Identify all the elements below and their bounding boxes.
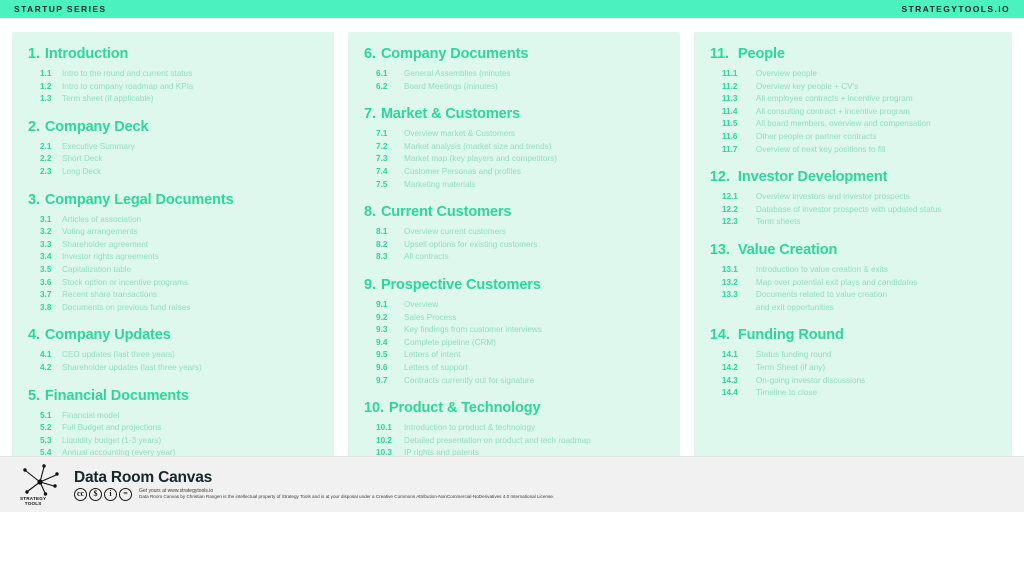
outline-item[interactable]: 5.2Full Budget and projections — [28, 422, 318, 435]
item-label: Other people or partner contracts — [756, 131, 877, 144]
outline-item[interactable]: 1.2Intro to company roadmap and KPIs — [28, 81, 318, 94]
item-label: Articles of association — [62, 214, 141, 227]
item-number: 11.4 — [722, 106, 756, 119]
item-label: All board members, overview and compensa… — [756, 118, 931, 131]
outline-section: 7.Market & Customers7.1Overview market &… — [364, 106, 664, 191]
section-heading: 12.Investor Development — [710, 169, 996, 185]
outline-item[interactable]: 10.1Introduction to product & technology — [364, 422, 664, 435]
item-number: 11.1 — [722, 68, 756, 81]
item-label: Recent share transactions — [62, 289, 157, 302]
outline-item[interactable]: 9.4Complete pipeline (CRM) — [364, 337, 664, 350]
item-label: Database of investor prospects with upda… — [756, 204, 942, 217]
outline-section: 3.Company Legal Documents3.1Articles of … — [28, 192, 318, 315]
item-number: 9.1 — [376, 299, 404, 312]
item-label: Short Deck — [62, 153, 103, 166]
outline-item[interactable]: 9.1Overview — [364, 299, 664, 312]
outline-item[interactable]: 12.3Term sheets — [710, 216, 996, 229]
no-derivatives-icon: = — [119, 488, 132, 501]
item-label: Intro to the round and current status — [62, 68, 192, 81]
item-label: Sales Process — [404, 312, 456, 325]
outline-item[interactable]: 8.2Upsell options for existing customers — [364, 239, 664, 252]
item-number: 9.6 — [376, 362, 404, 375]
item-number: 5.1 — [40, 410, 62, 423]
item-label-continued: and exit opportunities — [756, 302, 887, 315]
item-number: 12.3 — [722, 216, 756, 229]
outline-item[interactable]: 7.3Market map (key players and competito… — [364, 153, 664, 166]
item-number: 7.3 — [376, 153, 404, 166]
item-label: Documents on previous fund raises — [62, 302, 190, 315]
item-label: Term sheet (if applicable) — [62, 93, 153, 106]
outline-item[interactable]: 7.5Marketing materials — [364, 179, 664, 192]
series-label: STARTUP SERIES — [14, 4, 107, 14]
item-label: Overview market & Customers — [404, 128, 515, 141]
outline-item[interactable]: 11.3All employee contracts + incentive p… — [710, 93, 996, 106]
section-number: 4. — [28, 327, 40, 343]
section-title: People — [738, 46, 785, 62]
item-label: Overview people — [756, 68, 817, 81]
item-number: 9.7 — [376, 375, 404, 388]
section-number: 9. — [364, 277, 376, 293]
item-label: Full Budget and projections — [62, 422, 161, 435]
outline-item[interactable]: 2.3Long Deck — [28, 166, 318, 179]
footer-text: Get yours at www.strategytools.io Data R… — [139, 488, 554, 500]
item-label: CEO updates (last three years) — [62, 349, 175, 362]
section-title: Market & Customers — [381, 106, 520, 122]
item-number: 4.2 — [40, 362, 62, 375]
item-number: 10.1 — [376, 422, 404, 435]
outline-item[interactable]: 3.7Recent share transactions — [28, 289, 318, 302]
item-number: 3.3 — [40, 239, 62, 252]
column-1: 1.Introduction1.1Intro to the round and … — [12, 32, 334, 512]
item-number: 7.2 — [376, 141, 404, 154]
strategy-tools-logo: STRATEGY TOOLS — [14, 462, 66, 508]
column-2: 6.Company Documents6.1General Assemblies… — [348, 32, 680, 512]
section-heading: 1.Introduction — [28, 46, 318, 62]
outline-item[interactable]: 13.2Map over potential exit plays and ca… — [710, 277, 996, 290]
item-label: On-going investor discussions — [756, 375, 865, 388]
outline-item[interactable]: 9.3Key findings from customer interviews — [364, 324, 664, 337]
item-label: Overview investors and investor prospect… — [756, 191, 910, 204]
outline-section: 11.People11.1Overview people11.2Overview… — [710, 46, 996, 156]
item-number: 5.2 — [40, 422, 62, 435]
item-number: 8.3 — [376, 251, 404, 264]
item-number: 5.3 — [40, 435, 62, 448]
outline-item[interactable]: 5.1Financial model — [28, 410, 318, 423]
section-heading: 9.Prospective Customers — [364, 277, 664, 293]
section-number: 1. — [28, 46, 40, 62]
item-number: 3.1 — [40, 214, 62, 227]
footer-main: Data Room Canvas cc $ i = Get yours at w… — [74, 469, 554, 501]
brand-label: STRATEGYTOOLS.IO — [901, 4, 1010, 14]
section-title: Company Deck — [45, 119, 149, 135]
section-number: 8. — [364, 204, 376, 220]
outline-item[interactable]: 3.2Voting arrangements — [28, 226, 318, 239]
item-label: Overview current customers — [404, 226, 506, 239]
item-label: Shareholder agreement — [62, 239, 148, 252]
item-label: Liquidity budget (1-3 years) — [62, 435, 161, 448]
outline-item[interactable]: 13.1Introduction to value creation & exi… — [710, 264, 996, 277]
item-label: Capitalization table — [62, 264, 131, 277]
outline-item[interactable]: 14.4Timeline to close — [710, 387, 996, 400]
item-number: 13.3 — [722, 289, 756, 302]
outline-item[interactable]: 9.6Letters of support — [364, 362, 664, 375]
item-number: 11.7 — [722, 144, 756, 157]
item-label: Introduction to value creation & exits — [756, 264, 888, 277]
section-heading: 5.Financial Documents — [28, 388, 318, 404]
item-label: Intro to company roadmap and KPIs — [62, 81, 193, 94]
item-label: Key findings from customer interviews — [404, 324, 542, 337]
section-title: Funding Round — [738, 327, 844, 343]
section-title: Product & Technology — [389, 400, 541, 416]
creative-commons-icons: cc $ i = — [74, 488, 132, 501]
footer-license-row: cc $ i = Get yours at www.strategytools.… — [74, 488, 554, 501]
section-number: 2. — [28, 119, 40, 135]
item-number: 12.2 — [722, 204, 756, 217]
item-label: Documents related to value creationand e… — [756, 289, 887, 314]
section-number: 11. — [710, 46, 736, 62]
outline-section: 1.Introduction1.1Intro to the round and … — [28, 46, 318, 106]
item-number: 2.3 — [40, 166, 62, 179]
column-3: 11.People11.1Overview people11.2Overview… — [694, 32, 1012, 512]
item-label: Term Sheet (if any) — [756, 362, 825, 375]
section-number: 14. — [710, 327, 736, 343]
item-label: Financial model — [62, 410, 119, 423]
outline-item[interactable]: 4.1CEO updates (last three years) — [28, 349, 318, 362]
outline-item[interactable]: 14.2Term Sheet (if any) — [710, 362, 996, 375]
item-label: Contracts currently out for signature — [404, 375, 534, 388]
outline-item[interactable]: 12.1Overview investors and investor pros… — [710, 191, 996, 204]
item-label: Market analysis (market size and trends) — [404, 141, 551, 154]
outline-item[interactable]: 6.1General Assemblies (minutes — [364, 68, 664, 81]
item-number: 14.4 — [722, 387, 756, 400]
item-number: 12.1 — [722, 191, 756, 204]
outline-item[interactable]: 3.8Documents on previous fund raises — [28, 302, 318, 315]
section-number: 3. — [28, 192, 40, 208]
footer-license-line: Data Room Canvas by Christian Rangen is … — [139, 494, 554, 500]
outline-section: 6.Company Documents6.1General Assemblies… — [364, 46, 664, 93]
outline-item[interactable]: 3.1Articles of association — [28, 214, 318, 227]
item-label: Timeline to close — [756, 387, 817, 400]
section-heading: 14.Funding Round — [710, 327, 996, 343]
item-label: General Assemblies (minutes — [404, 68, 510, 81]
outline-item[interactable]: 1.3 Term sheet (if applicable) — [28, 93, 318, 106]
cc-icon: cc — [74, 488, 87, 501]
item-number: 14.1 — [722, 349, 756, 362]
outline-item[interactable]: 7.1Overview market & Customers — [364, 128, 664, 141]
item-number: 8.1 — [376, 226, 404, 239]
item-number: 11.5 — [722, 118, 756, 131]
outline-section: 4.Company Updates4.1CEO updates (last th… — [28, 327, 318, 374]
outline-section: 2.Company Deck2.1Executive Summary2.2Sho… — [28, 119, 318, 179]
section-heading: 4.Company Updates — [28, 327, 318, 343]
item-number: 1.3 — [40, 93, 62, 106]
item-number: 8.2 — [376, 239, 404, 252]
outline-item[interactable]: 10.2Detailed presentation on product and… — [364, 435, 664, 448]
outline-item[interactable]: 9.2Sales Process — [364, 312, 664, 325]
item-label: Complete pipeline (CRM) — [404, 337, 496, 350]
item-number: 1.2 — [40, 81, 62, 94]
item-label: Introduction to product & technology — [404, 422, 535, 435]
section-number: 5. — [28, 388, 40, 404]
item-label: Shareholder updates (last three years) — [62, 362, 202, 375]
item-label: Detailed presentation on product and tec… — [404, 435, 591, 448]
outline-item[interactable]: 3.3Shareholder agreement — [28, 239, 318, 252]
section-title: Company Updates — [45, 327, 171, 343]
canvas-title: Data Room Canvas — [74, 469, 554, 486]
outline-item[interactable]: 7.4Customer Personas and profiles — [364, 166, 664, 179]
section-number: 7. — [364, 106, 376, 122]
item-label: Letters of support — [404, 362, 468, 375]
section-heading: 3.Company Legal Documents — [28, 192, 318, 208]
item-number: 13.2 — [722, 277, 756, 290]
item-number: 9.2 — [376, 312, 404, 325]
item-label: Letters of intent — [404, 349, 460, 362]
item-number: 3.7 — [40, 289, 62, 302]
section-heading: 2.Company Deck — [28, 119, 318, 135]
outline-item[interactable]: 2.1Executive Summary — [28, 141, 318, 154]
item-label: Long Deck — [62, 166, 101, 179]
item-number: 6.1 — [376, 68, 404, 81]
logo-word-line-2: TOOLS — [25, 501, 42, 506]
outline-section: 8.Current Customers8.1Overview current c… — [364, 204, 664, 264]
item-number: 14.2 — [722, 362, 756, 375]
item-number: 11.3 — [722, 93, 756, 106]
outline-item[interactable]: 5.3Liquidity budget (1-3 years) — [28, 435, 318, 448]
item-number: 3.6 — [40, 277, 62, 290]
section-title: Financial Documents — [45, 388, 189, 404]
item-label: Voting arrangements — [62, 226, 138, 239]
item-label: Overview of next key positions to fill — [756, 144, 886, 157]
section-number: 13. — [710, 242, 736, 258]
item-label: All consulting contract + incentive prog… — [756, 106, 910, 119]
footer: STRATEGY TOOLS Data Room Canvas cc $ i =… — [0, 456, 1024, 512]
outline-item[interactable]: 11.2Overview key people + CV's — [710, 81, 996, 94]
item-number: 2.1 — [40, 141, 62, 154]
item-number: 3.5 — [40, 264, 62, 277]
outline-item[interactable]: 4.2Shareholder updates (last three years… — [28, 362, 318, 375]
outline-item[interactable]: 3.5Capitalization table — [28, 264, 318, 277]
item-label: Customer Personas and profiles — [404, 166, 521, 179]
section-title: Company Documents — [381, 46, 528, 62]
outline-section: 14.Funding Round14.1Status funding round… — [710, 327, 996, 399]
item-number: 1.1 — [40, 68, 62, 81]
item-number: 11.2 — [722, 81, 756, 94]
attribution-icon: i — [104, 488, 117, 501]
item-number: 9.5 — [376, 349, 404, 362]
item-number: 4.1 — [40, 349, 62, 362]
item-label: Stock option or incentive programs — [62, 277, 188, 290]
item-number: 6.2 — [376, 81, 404, 94]
item-number: 9.4 — [376, 337, 404, 350]
outline-item[interactable]: 12.2Database of investor prospects with … — [710, 204, 996, 217]
outline-section: 12.Investor Development12.1Overview inve… — [710, 169, 996, 229]
outline-item[interactable]: 11.5All board members, overview and comp… — [710, 118, 996, 131]
outline-item[interactable]: 9.7Contracts currently out for signature — [364, 375, 664, 388]
section-heading: 7.Market & Customers — [364, 106, 664, 122]
outline-item[interactable]: 8.1Overview current customers — [364, 226, 664, 239]
section-heading: 10.Product & Technology — [364, 400, 664, 416]
item-number: 2.2 — [40, 153, 62, 166]
item-label: Overview key people + CV's — [756, 81, 858, 94]
section-number: 10. — [364, 400, 384, 416]
item-label: Term sheets — [756, 216, 801, 229]
item-label: Upsell options for existing customers — [404, 239, 537, 252]
section-heading: 13.Value Creation — [710, 242, 996, 258]
section-heading: 6.Company Documents — [364, 46, 664, 62]
outline-item[interactable]: 6.2Board Meetings (minutes) — [364, 81, 664, 94]
item-label: Board Meetings (minutes) — [404, 81, 498, 94]
outline-item[interactable]: 14.1Status funding round — [710, 349, 996, 362]
section-number: 6. — [364, 46, 376, 62]
section-title: Prospective Customers — [381, 277, 541, 293]
top-header-bar: STARTUP SERIES STRATEGYTOOLS.IO — [0, 0, 1024, 18]
outline-item[interactable]: 11.6Other people or partner contracts — [710, 131, 996, 144]
logo-wordmark: STRATEGY TOOLS — [20, 496, 46, 506]
item-label: Map over potential exit plays and candid… — [756, 277, 918, 290]
item-label: Status funding round — [756, 349, 832, 362]
non-commercial-icon: $ — [89, 488, 102, 501]
item-label: All contracts — [404, 251, 449, 264]
outline-item[interactable]: 7.2Market analysis (market size and tren… — [364, 141, 664, 154]
outline-item[interactable]: 11.4All consulting contract + incentive … — [710, 106, 996, 119]
item-number: 7.4 — [376, 166, 404, 179]
item-number: 13.1 — [722, 264, 756, 277]
item-number: 3.4 — [40, 251, 62, 264]
section-title: Company Legal Documents — [45, 192, 234, 208]
item-number: 3.8 — [40, 302, 62, 315]
item-number: 3.2 — [40, 226, 62, 239]
section-heading: 11.People — [710, 46, 996, 62]
section-title: Value Creation — [738, 242, 837, 258]
outline-section: 13.Value Creation13.1Introduction to val… — [710, 242, 996, 314]
outline-item[interactable]: 2.2Short Deck — [28, 153, 318, 166]
item-label: Executive Summary — [62, 141, 135, 154]
section-title: Introduction — [45, 46, 128, 62]
item-label: All employee contracts + incentive progr… — [756, 93, 913, 106]
section-heading: 8.Current Customers — [364, 204, 664, 220]
outline-item[interactable]: 3.6Stock option or incentive programs — [28, 277, 318, 290]
canvas-area: 1.Introduction1.1Intro to the round and … — [0, 18, 1024, 512]
outline-section: 9.Prospective Customers9.1Overview9.2Sal… — [364, 277, 664, 387]
section-title: Investor Development — [738, 169, 888, 185]
item-number: 9.3 — [376, 324, 404, 337]
item-label: Investor rights agreements — [62, 251, 159, 264]
item-label: Marketing materials — [404, 179, 475, 192]
item-number: 7.1 — [376, 128, 404, 141]
item-label: Market map (key players and competitors) — [404, 153, 557, 166]
section-number: 12. — [710, 169, 736, 185]
item-label: Overview — [404, 299, 438, 312]
item-number: 11.6 — [722, 131, 756, 144]
outline-item[interactable]: 1.1Intro to the round and current status — [28, 68, 318, 81]
section-title: Current Customers — [381, 204, 511, 220]
outline-item[interactable]: 9.5Letters of intent — [364, 349, 664, 362]
outline-item[interactable]: 11.1Overview people — [710, 68, 996, 81]
outline-item[interactable]: 11.7Overview of next key positions to fi… — [710, 144, 996, 157]
item-number: 10.2 — [376, 435, 404, 448]
outline-item[interactable]: 14.3On-going investor discussions — [710, 375, 996, 388]
outline-item[interactable]: 8.3All contracts — [364, 251, 664, 264]
item-number: 14.3 — [722, 375, 756, 388]
outline-item[interactable]: 3.4Investor rights agreements — [28, 251, 318, 264]
item-number: 7.5 — [376, 179, 404, 192]
outline-item[interactable]: 13.3Documents related to value creationa… — [710, 289, 996, 314]
